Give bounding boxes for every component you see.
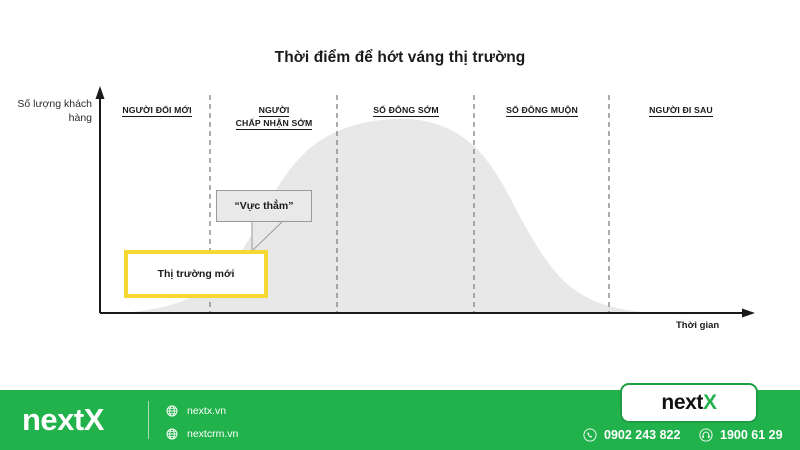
brand-badge[interactable]: nextX xyxy=(620,383,758,423)
phone-circle-icon xyxy=(583,428,597,442)
brand-badge-suffix: X xyxy=(703,391,717,415)
segment-header-early-majority: SỐ ĐÔNG SỚM xyxy=(339,104,473,117)
footer-phone-label: 1900 61 29 xyxy=(720,428,783,442)
segment-header-innovators: NGƯỜI ĐỔI MỚI xyxy=(104,104,210,117)
footer-divider xyxy=(148,401,149,439)
segment-label-early-majority: SỐ ĐÔNG SỚM xyxy=(373,104,439,117)
y-axis-label: Số lượng khách hàng xyxy=(8,97,92,125)
chart-area: Thời điểm để hớt váng thị trường Số lượn… xyxy=(0,0,800,390)
footer-site-label: nextx.vn xyxy=(187,405,226,417)
segment-label-innovators: NGƯỜI ĐỔI MỚI xyxy=(122,104,191,117)
segment-header-laggards: NGƯỜI ĐI SAU xyxy=(611,104,751,117)
footer-site-label: nextcrm.vn xyxy=(187,428,238,440)
headset-circle-icon xyxy=(699,428,713,442)
footer-site-nextx[interactable]: nextx.vn xyxy=(166,405,226,417)
globe-icon xyxy=(166,405,178,417)
y-axis-label-line1: Số lượng khách xyxy=(8,97,92,111)
footer-site-nextcrm[interactable]: nextcrm.vn xyxy=(166,428,238,440)
segment-label-late-majority: SỐ ĐÔNG MUỘN xyxy=(506,104,578,117)
globe-icon xyxy=(166,428,178,440)
brand-badge-prefix: next xyxy=(661,391,703,415)
screenshot-root: Thời điểm để hớt váng thị trường Số lượn… xyxy=(0,0,800,450)
footer-phone-hotline[interactable]: 0902 243 822 xyxy=(583,428,680,442)
segment-label-laggards: NGƯỜI ĐI SAU xyxy=(649,104,713,117)
new-market-highlight-box: Thị trường mới xyxy=(124,250,268,298)
segment-label-early-adopters-line2: CHẤP NHẬN SỚM xyxy=(236,117,313,130)
chasm-callout: “Vực thẳm” xyxy=(216,190,312,222)
x-axis-arrow-icon xyxy=(742,309,755,318)
x-axis-label: Thời gian xyxy=(676,320,719,331)
footer-phone-support[interactable]: 1900 61 29 xyxy=(699,428,783,442)
y-axis-label-line2: hàng xyxy=(8,111,92,125)
footer-phone-label: 0902 243 822 xyxy=(604,428,680,442)
y-axis-arrow-icon xyxy=(96,86,105,99)
segment-header-early-adopters: NGƯỜI CHẤP NHẬN SỚM xyxy=(212,104,336,130)
page-title: Thời điểm để hớt váng thị trường xyxy=(0,49,800,67)
segment-header-late-majority: SỐ ĐÔNG MUỘN xyxy=(476,104,608,117)
segment-label-early-adopters-line1: NGƯỜI xyxy=(259,104,290,117)
footer-logo: nextX xyxy=(22,402,104,438)
